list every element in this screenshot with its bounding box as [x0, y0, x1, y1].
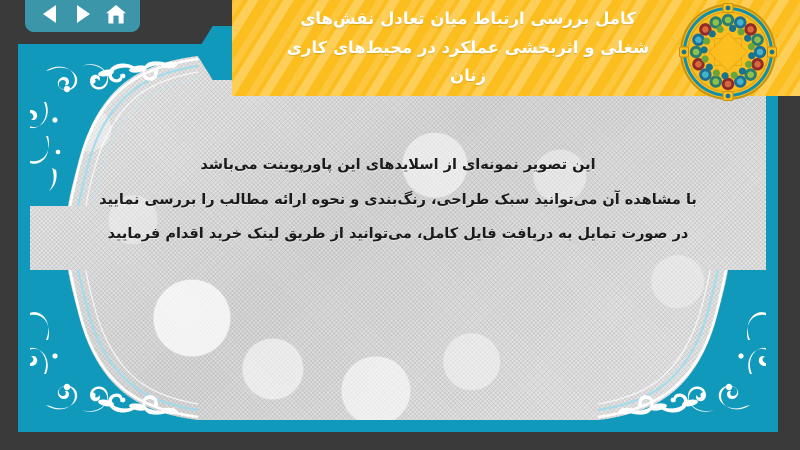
slide-page-surface: این تصویر نمونه‌ای از اسلایدهای این پاور… — [30, 56, 766, 420]
slide-viewer: این تصویر نمونه‌ای از اسلایدهای این پاور… — [0, 0, 800, 450]
ornamental-corner-bottom-right — [598, 270, 766, 420]
next-slide-button[interactable] — [70, 2, 96, 26]
previous-slide-button[interactable] — [37, 2, 63, 26]
title-line-2: شغلی و اثربخشی عملکرد در محیط‌های کاری — [287, 34, 649, 62]
title-line-3: زنان — [450, 62, 486, 90]
home-icon — [105, 4, 127, 25]
triangle-right-icon — [74, 4, 92, 24]
presentation-slide: این تصویر نمونه‌ای از اسلایدهای این پاور… — [18, 44, 778, 432]
body-line-1: این تصویر نمونه‌ای از اسلایدهای این پاور… — [90, 148, 706, 183]
title-line-1: کامل بررسی ارتباط میان تعادل نقش‌های — [300, 5, 636, 33]
triangle-left-icon — [41, 4, 59, 24]
home-button[interactable] — [103, 2, 129, 26]
body-line-3: در صورت تمایل به دریافت فایل کامل، می‌تو… — [90, 217, 706, 252]
persian-mandala-medallion — [678, 2, 778, 102]
ornamental-corner-bottom-left — [30, 270, 198, 420]
navigation-bar — [25, 0, 140, 32]
slide-body-text: این تصویر نمونه‌ای از اسلایدهای این پاور… — [90, 148, 706, 252]
body-line-2: با مشاهده آن می‌توانید سبک طراحی، رنگ‌بن… — [90, 183, 706, 218]
